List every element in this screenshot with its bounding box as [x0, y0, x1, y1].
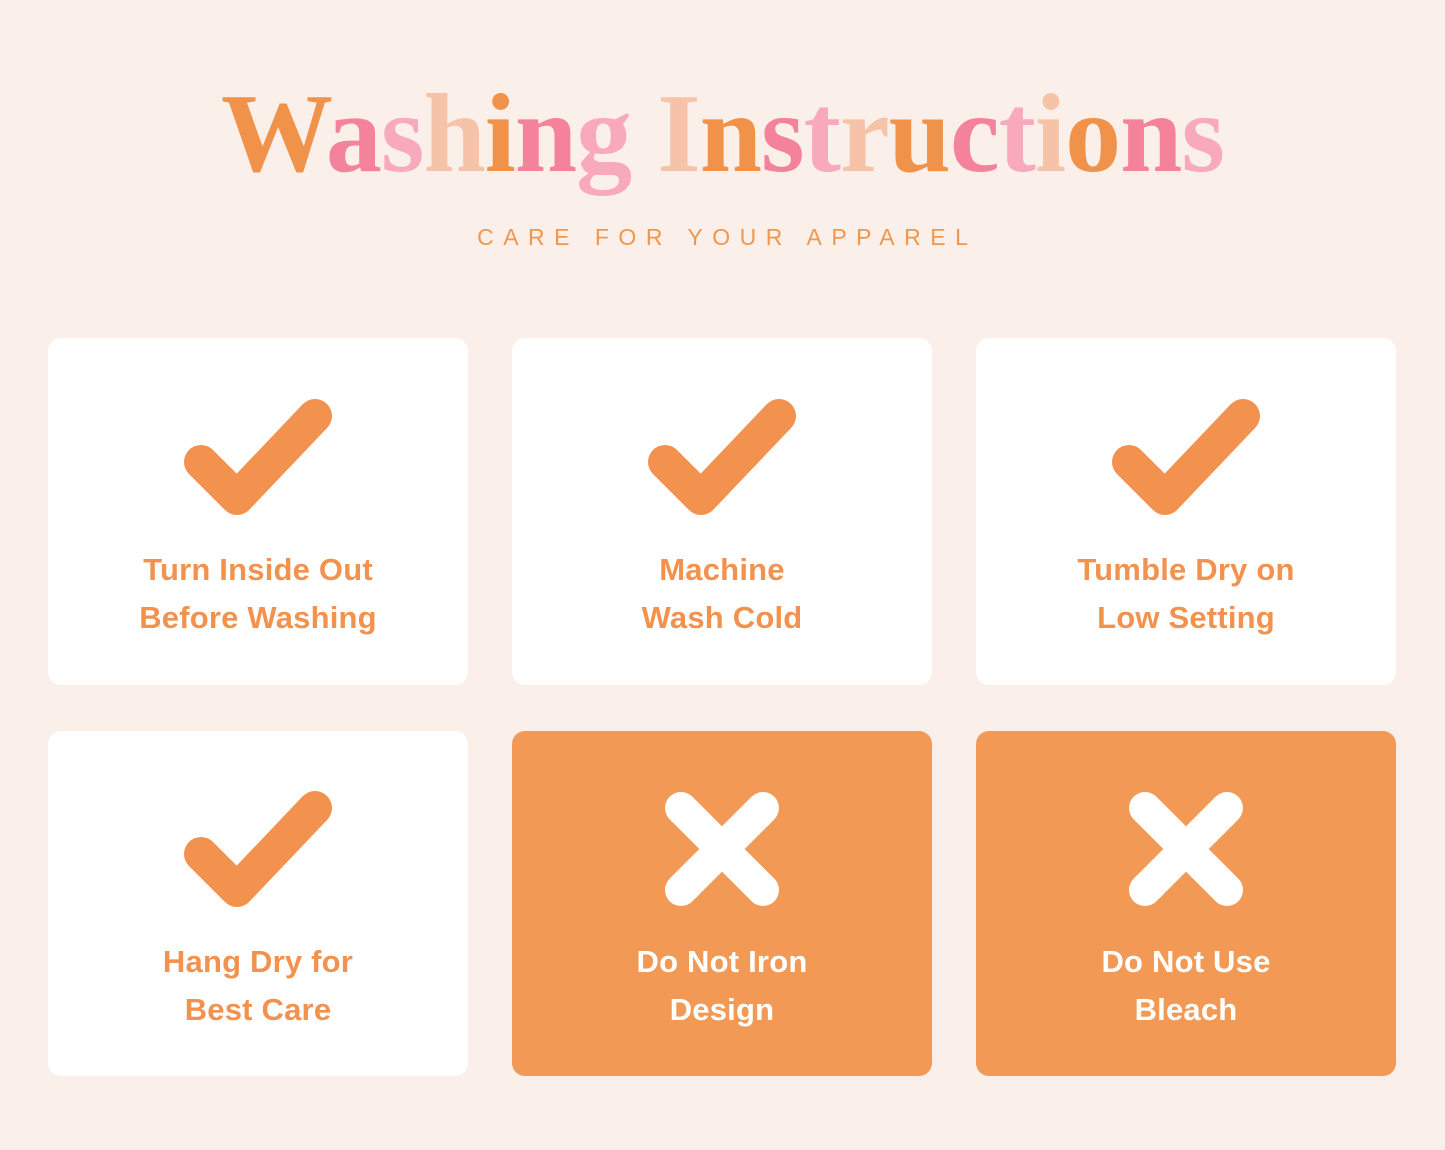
- instruction-card-line2: Bleach: [1101, 986, 1270, 1033]
- title-letter: i: [1035, 72, 1065, 196]
- check-icon: [1111, 382, 1261, 532]
- cross-icon: [661, 774, 783, 924]
- instruction-card-label: Turn Inside OutBefore Washing: [139, 546, 377, 640]
- instruction-card-line1: Hang Dry for: [163, 938, 353, 985]
- instruction-card-line2: Low Setting: [1077, 594, 1294, 641]
- instruction-card-grid: Turn Inside OutBefore WashingMachineWash…: [48, 338, 1397, 1076]
- page-subtitle: CARE FOR YOUR APPAREL: [48, 224, 1397, 251]
- title-letter: h: [423, 72, 484, 196]
- title-letter: g: [576, 72, 631, 196]
- title-letter: W: [221, 72, 326, 196]
- title-letter: i: [485, 72, 515, 196]
- instruction-card-line2: Best Care: [163, 986, 353, 1033]
- instruction-card-line2: Wash Cold: [642, 594, 803, 641]
- title-letter: t: [804, 72, 840, 196]
- instruction-card-label: Do Not IronDesign: [637, 938, 808, 1032]
- instruction-card: Tumble Dry onLow Setting: [976, 338, 1396, 685]
- instruction-card-line1: Tumble Dry on: [1077, 546, 1294, 593]
- title-letter: n: [515, 72, 576, 196]
- title-letter: c: [950, 72, 999, 196]
- instruction-card-line1: Do Not Iron: [637, 938, 808, 985]
- cross-icon: [1125, 774, 1247, 924]
- instruction-card: Do Not UseBleach: [976, 731, 1396, 1076]
- instruction-card: Turn Inside OutBefore Washing: [48, 338, 468, 685]
- title-letter: s: [761, 72, 804, 196]
- cross-icon-svg: [661, 788, 783, 910]
- instruction-card: MachineWash Cold: [512, 338, 932, 685]
- instruction-card-line2: Design: [637, 986, 808, 1033]
- check-icon-svg: [183, 398, 333, 516]
- instruction-card: Do Not IronDesign: [512, 731, 932, 1076]
- check-icon: [183, 382, 333, 532]
- check-icon: [183, 774, 333, 924]
- title-letter: r: [840, 72, 889, 196]
- title-letter: s: [1181, 72, 1224, 196]
- page-title: WashingInstructions: [48, 78, 1397, 190]
- cross-icon-svg: [1125, 788, 1247, 910]
- poster-header: WashingInstructions CARE FOR YOUR APPARE…: [48, 0, 1397, 251]
- title-letter: a: [326, 72, 381, 196]
- instruction-card-label: MachineWash Cold: [642, 546, 803, 640]
- instruction-card-line1: Do Not Use: [1101, 938, 1270, 985]
- instruction-card-label: Do Not UseBleach: [1101, 938, 1270, 1032]
- instruction-card-line1: Turn Inside Out: [139, 546, 377, 593]
- title-letter: u: [889, 72, 950, 196]
- instruction-card-label: Tumble Dry onLow Setting: [1077, 546, 1294, 640]
- check-icon-svg: [647, 398, 797, 516]
- title-letter: I: [657, 72, 700, 196]
- check-icon-svg: [1111, 398, 1261, 516]
- title-letter: s: [381, 72, 424, 196]
- instruction-card-line2: Before Washing: [139, 594, 377, 641]
- instruction-card: Hang Dry forBest Care: [48, 731, 468, 1076]
- instruction-card-label: Hang Dry forBest Care: [163, 938, 353, 1032]
- title-letter: n: [700, 72, 761, 196]
- check-icon: [647, 382, 797, 532]
- title-letter: n: [1120, 72, 1181, 196]
- title-letter: o: [1065, 72, 1120, 196]
- instruction-card-line1: Machine: [642, 546, 803, 593]
- title-letter: t: [999, 72, 1035, 196]
- check-icon-svg: [183, 790, 333, 908]
- washing-instructions-poster: WashingInstructions CARE FOR YOUR APPARE…: [0, 0, 1445, 1150]
